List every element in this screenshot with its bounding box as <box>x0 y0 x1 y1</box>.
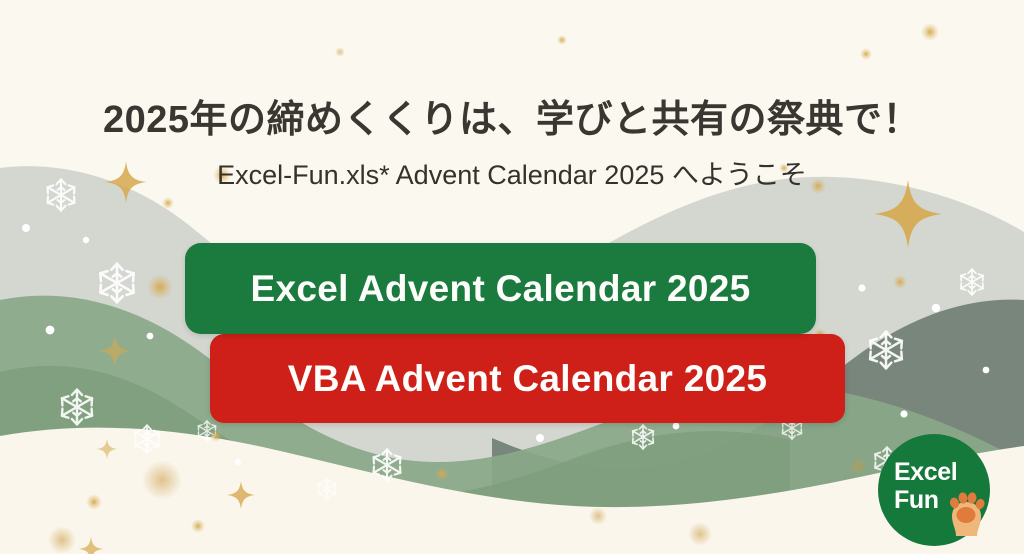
excel-advent-calendar-button[interactable]: Excel Advent Calendar 2025 <box>185 243 816 334</box>
page-title: 2025年の締めくくりは、学びと共有の祭典で！ <box>0 88 1024 143</box>
advent-calendar-banner: 2025年の締めくくりは、学びと共有の祭典で！ Excel-Fun.xls* A… <box>0 0 1024 554</box>
cat-paw-icon <box>944 486 988 538</box>
page-subtitle: Excel-Fun.xls* Advent Calendar 2025 へようこ… <box>0 153 1024 192</box>
vba-advent-calendar-button[interactable]: VBA Advent Calendar 2025 <box>210 334 845 423</box>
logo-line-excel: Excel <box>894 458 957 486</box>
excel-fun-logo[interactable]: Excel Fun <box>878 434 990 546</box>
